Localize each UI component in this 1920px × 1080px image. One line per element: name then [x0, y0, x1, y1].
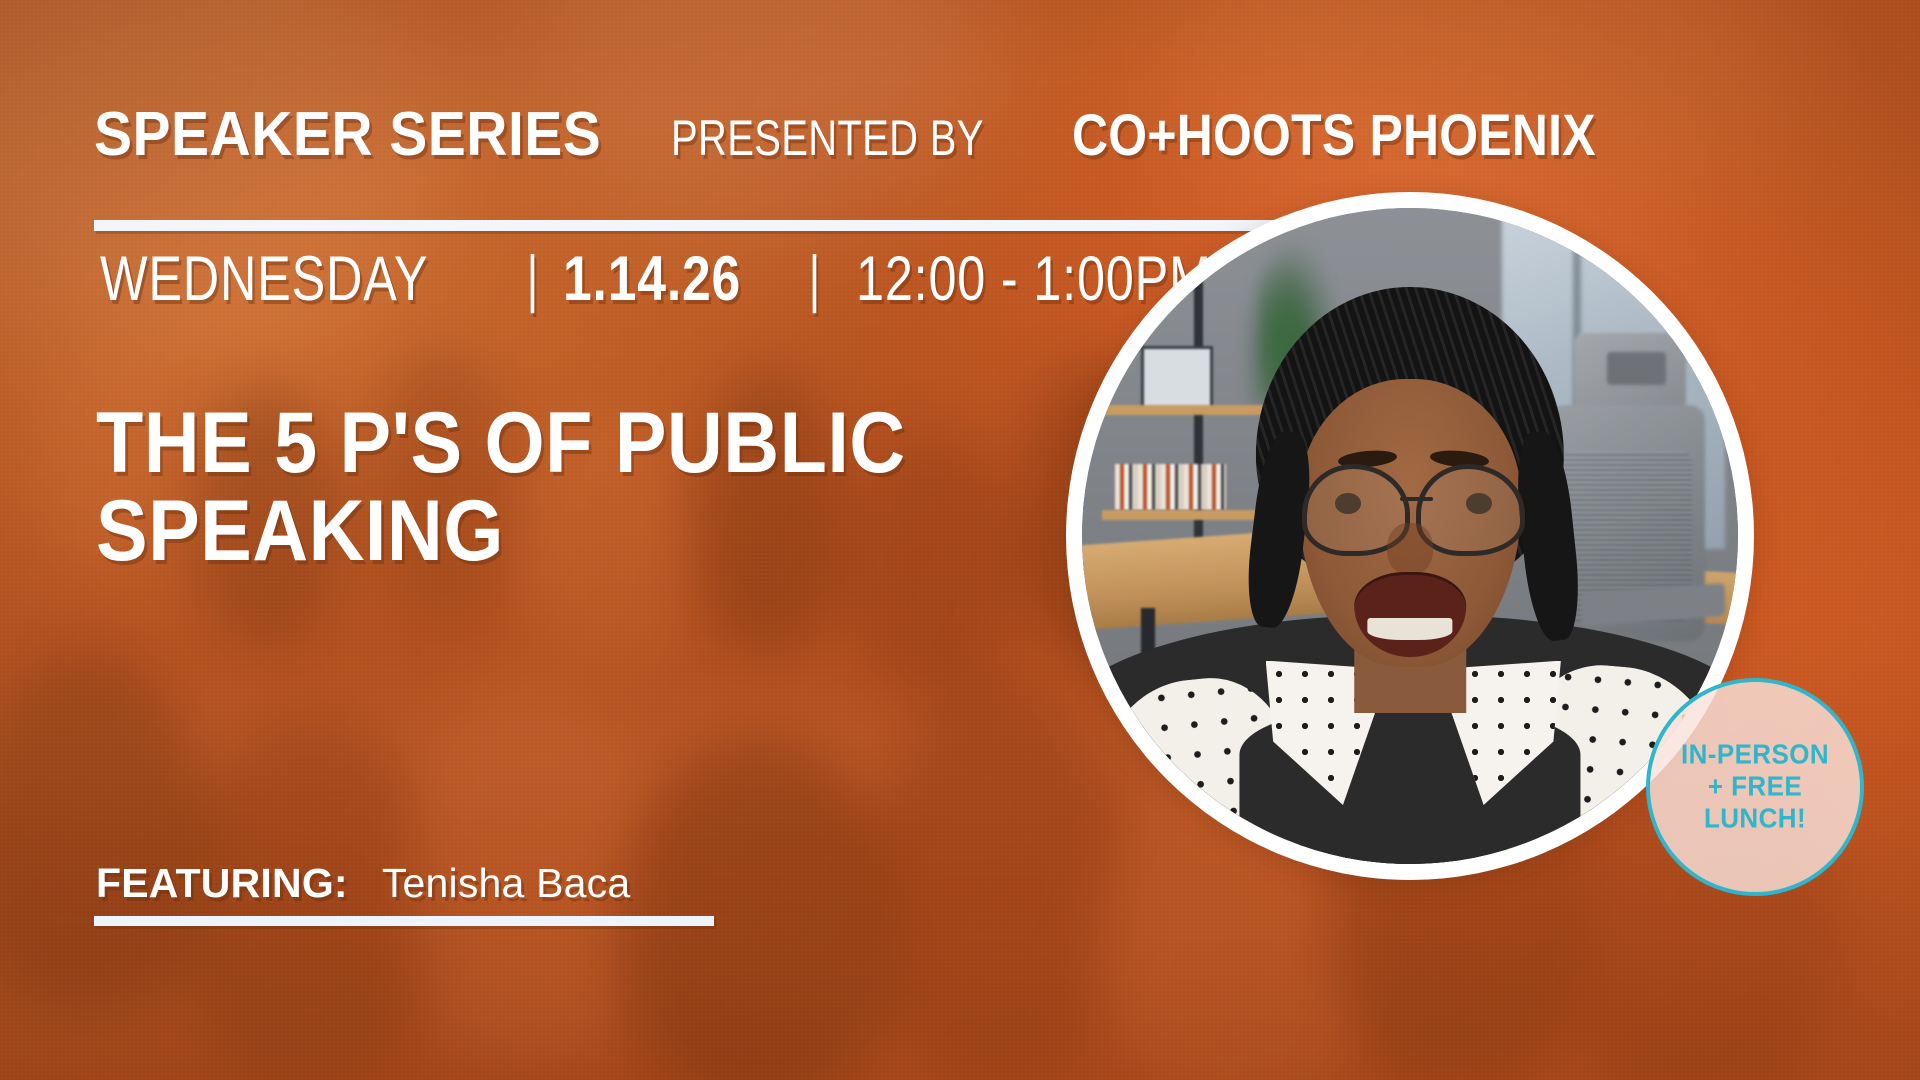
speaker-photo — [1082, 208, 1738, 864]
dateline-date: 1.14.26 — [563, 248, 741, 311]
headline-brand: CO+HOOTS PHOENIX — [1072, 107, 1596, 165]
event-title-line-1: THE 5 P'S OF PUBLIC — [96, 400, 906, 488]
badge-line-2: + FREE — [1708, 770, 1802, 804]
event-title: THE 5 P'S OF PUBLIC SPEAKING — [96, 400, 996, 575]
headline-main: SPEAKER SERIES — [94, 104, 601, 166]
headline-presented-by: PRESENTED BY — [671, 113, 984, 163]
featuring-label: FEATURING: — [96, 860, 348, 906]
dateline-day: WEDNESDAY — [100, 248, 428, 311]
dateline-separator-1: | — [524, 248, 541, 311]
featuring-speaker-name: Tenisha Baca — [382, 860, 631, 906]
dateline-separator-2: | — [806, 248, 823, 311]
featuring-line: FEATURING: Tenisha Baca — [96, 860, 630, 907]
event-poster: SPEAKER SERIES PRESENTED BY CO+HOOTS PHO… — [0, 0, 1920, 1080]
headline: SPEAKER SERIES PRESENTED BY CO+HOOTS PHO… — [94, 104, 1681, 166]
in-person-free-lunch-badge: IN-PERSON + FREE LUNCH! — [1646, 678, 1864, 896]
badge-line-1: IN-PERSON — [1681, 738, 1829, 772]
featuring-divider-rule — [94, 916, 714, 926]
event-title-line-2: SPEAKING — [96, 488, 906, 576]
badge-line-3: LUNCH! — [1704, 802, 1806, 836]
